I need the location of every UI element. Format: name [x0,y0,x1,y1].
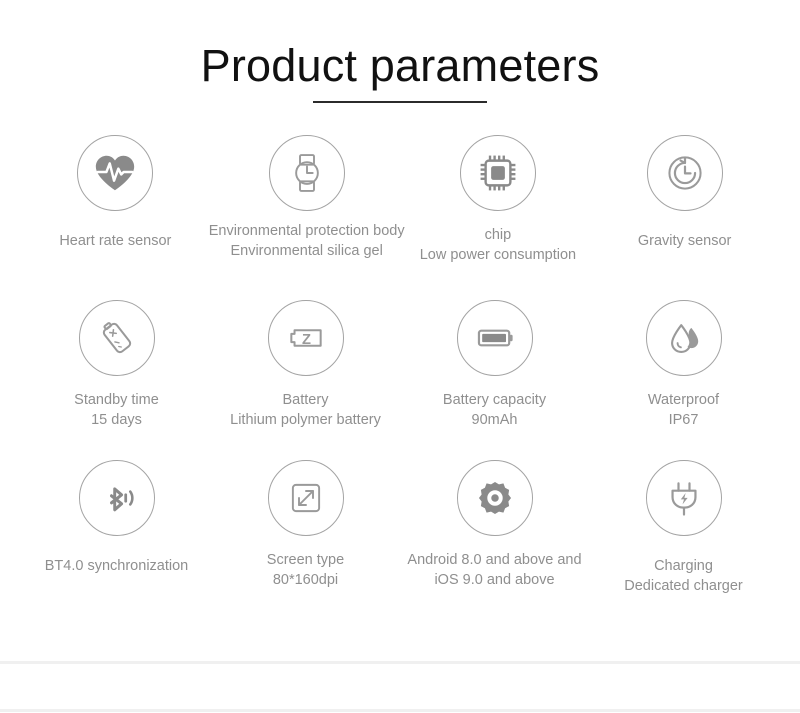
spec-row: Heart rate sensor Environmental protecti… [22,135,778,300]
spec-label: Screen type 80*160dpi [267,550,344,590]
spec-label-line: Low power consumption [420,245,576,265]
standby-battery-icon [79,300,155,376]
spec-item-environmental-body: Environmental protection body Environmen… [209,135,405,300]
spec-label-line: Dedicated charger [624,576,743,596]
spec-label-line: 90mAh [443,410,546,430]
section-divider-top [0,661,800,664]
spec-label-line: 15 days [74,410,159,430]
spec-label-line: Screen type [267,550,344,570]
spec-label-line: 80*160dpi [267,570,344,590]
spec-label-line: Gravity sensor [638,231,731,251]
spec-label-line: Environmental silica gel [209,241,405,261]
chip-icon [460,135,536,211]
battery-z-icon: Z [268,300,344,376]
spec-label: Android 8.0 and above and iOS 9.0 and ab… [407,550,581,590]
spec-item-battery-type: Z Battery Lithium polymer battery [211,300,400,460]
spec-label: Battery Lithium polymer battery [230,390,381,430]
spec-label-line: Battery capacity [443,390,546,410]
spec-item-os-support: Android 8.0 and above and iOS 9.0 and ab… [400,460,589,610]
power-plug-icon [646,460,722,536]
title-underline [313,101,487,103]
gear-icon [457,460,533,536]
spec-item-heart-rate-sensor: Heart rate sensor [22,135,209,300]
spec-item-charging: Charging Dedicated charger [589,460,778,610]
spec-label: Heart rate sensor [59,231,171,251]
spec-label-line: Charging [624,556,743,576]
spec-item-chip: chip Low power consumption [405,135,592,300]
spec-label-line: IP67 [648,410,719,430]
bluetooth-icon [79,460,155,536]
screen-resize-icon [268,460,344,536]
spec-label: BT4.0 synchronization [45,556,188,576]
spec-label: Battery capacity 90mAh [443,390,546,430]
spec-label: Standby time 15 days [74,390,159,430]
waterdrop-icon [646,300,722,376]
svg-text:Z: Z [301,332,310,348]
spec-row: BT4.0 synchronization Screen type 80*160… [22,460,778,610]
spec-item-screen-type: Screen type 80*160dpi [211,460,400,610]
spec-label-line: Environmental protection body [209,221,405,241]
spec-label: chip Low power consumption [420,225,576,265]
spec-item-gravity-sensor: Gravity sensor [591,135,778,300]
heart-rate-icon [77,135,153,211]
spec-item-standby-time: Standby time 15 days [22,300,211,460]
spec-row: Standby time 15 days Z Battery Lithium p… [22,300,778,460]
title-block: Product parameters [0,0,800,103]
spec-grid: Heart rate sensor Environmental protecti… [0,135,800,610]
spec-label: Environmental protection body Environmen… [209,221,405,261]
watch-icon [269,135,345,211]
spec-label-line: Heart rate sensor [59,231,171,251]
spec-label-line: BT4.0 synchronization [45,556,188,576]
spec-label-line: chip [420,225,576,245]
spec-label-line: Waterproof [648,390,719,410]
spec-label-line: Lithium polymer battery [230,410,381,430]
spec-item-waterproof: Waterproof IP67 [589,300,778,460]
page-title: Product parameters [0,42,800,89]
spec-label: Charging Dedicated charger [624,556,743,596]
spec-item-bluetooth: BT4.0 synchronization [22,460,211,610]
spec-label: Waterproof IP67 [648,390,719,430]
spec-label: Gravity sensor [638,231,731,251]
gravity-sensor-icon [647,135,723,211]
spec-item-battery-capacity: Battery capacity 90mAh [400,300,589,460]
product-parameters-page: Product parameters Heart rate sensor [0,0,800,713]
battery-full-icon [457,300,533,376]
spec-label-line: Battery [230,390,381,410]
section-divider-bottom [0,709,800,712]
spec-label-line: Android 8.0 and above and [407,550,581,570]
spec-label-line: iOS 9.0 and above [407,570,581,590]
spec-label-line: Standby time [74,390,159,410]
